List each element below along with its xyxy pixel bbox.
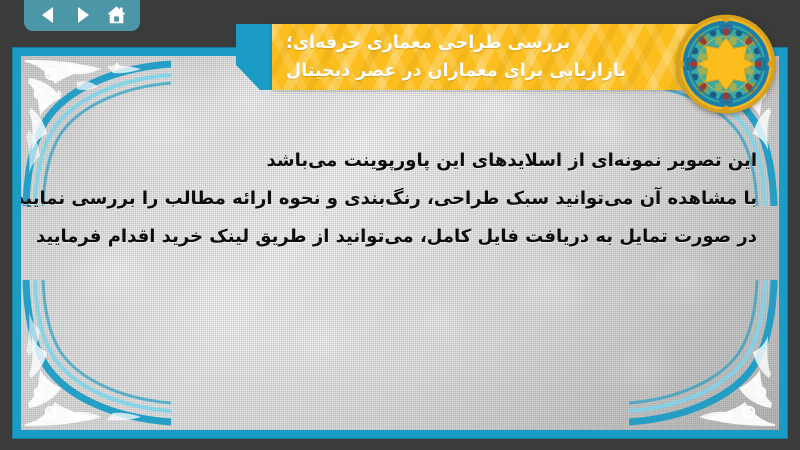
- screen: این تصویر نمونه‌ای از اسلایدهای این پاور…: [0, 0, 800, 450]
- slide-frame: این تصویر نمونه‌ای از اسلایدهای این پاور…: [12, 47, 788, 439]
- triangle-left-icon: [40, 6, 57, 24]
- prev-slide-button[interactable]: [34, 3, 62, 27]
- persian-medallion-icon: [674, 12, 778, 116]
- body-line-1: این تصویر نمونه‌ای از اسلایدهای این پاور…: [43, 142, 757, 180]
- next-slide-button[interactable]: [68, 3, 96, 27]
- triangle-right-icon: [74, 6, 91, 24]
- slide-canvas: این تصویر نمونه‌ای از اسلایدهای این پاور…: [21, 56, 779, 430]
- slide-navigation-bar: [24, 0, 140, 31]
- home-button[interactable]: [102, 3, 130, 27]
- arabesque-corner-icon: [629, 280, 779, 430]
- arabesque-corner-icon: [21, 280, 171, 430]
- body-line-3: در صورت تمایل به دریافت فایل کامل، می‌تو…: [43, 218, 757, 256]
- slide-body-text: این تصویر نمونه‌ای از اسلایدهای این پاور…: [43, 142, 757, 255]
- home-icon: [106, 5, 127, 25]
- title-line-2: بازاریابی برای معماران در عصر دیجیتال: [286, 57, 626, 85]
- title-line-1: بررسی طراحی معماری حرفه‌ای؛: [286, 29, 570, 57]
- body-line-2: با مشاهده آن می‌توانید سبک طراحی، رنگ‌بن…: [43, 180, 757, 218]
